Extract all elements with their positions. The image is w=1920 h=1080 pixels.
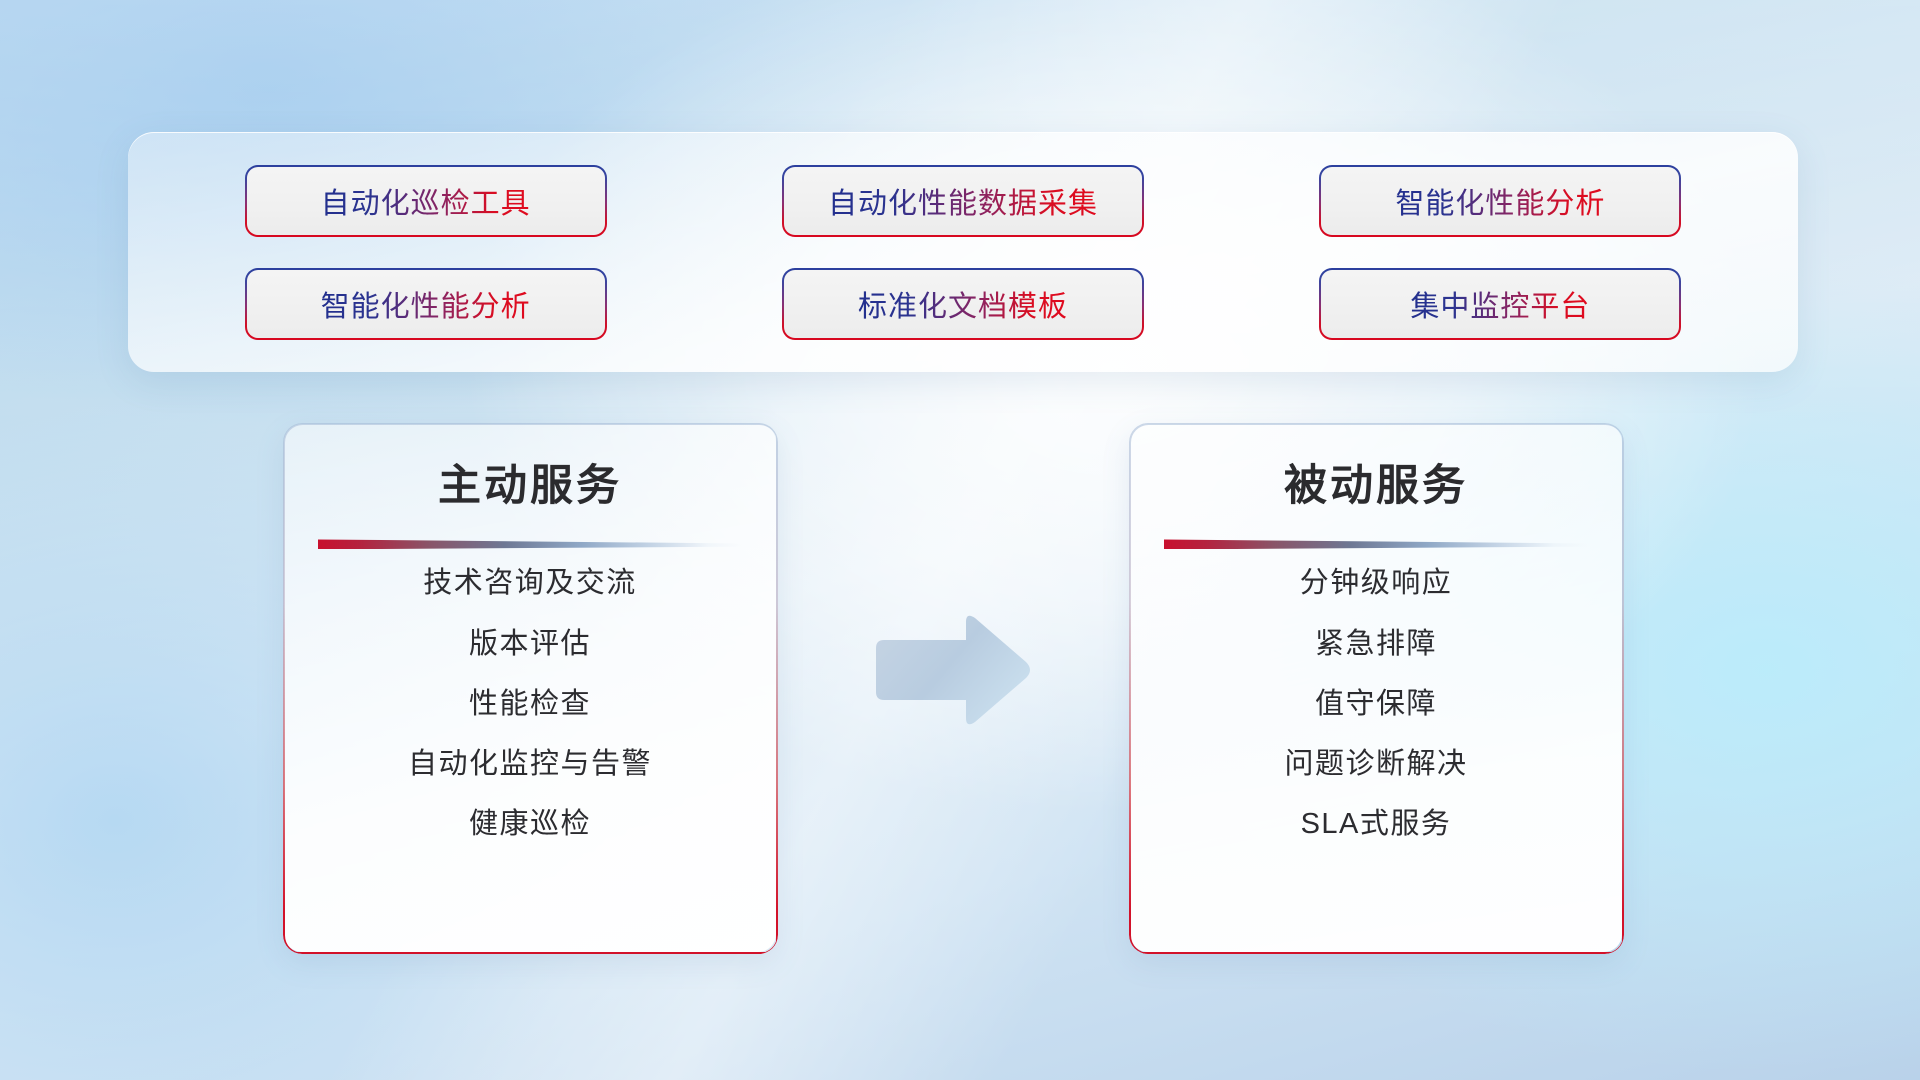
active-service-card: 主动服务 技术咨询及交流 版本评估 性能检查 自动化监控与告警 健康巡检	[284, 424, 776, 952]
capability-pill-label: 自动化巡检工具	[321, 180, 531, 222]
arrow-right-icon	[866, 610, 1034, 730]
divider-bar	[1164, 539, 1588, 549]
list-item: 健康巡检	[318, 806, 742, 842]
list-item: SLA式服务	[1164, 806, 1588, 842]
capability-pill[interactable]: 智能化性能分析	[1321, 167, 1679, 235]
list-item: 问题诊断解决	[1164, 746, 1588, 782]
divider-bar	[318, 539, 742, 549]
active-service-list: 技术咨询及交流 版本评估 性能检查 自动化监控与告警 健康巡检	[318, 565, 742, 842]
capability-pill-label: 智能化性能分析	[1395, 180, 1605, 222]
list-item: 性能检查	[318, 686, 742, 722]
card-divider	[1164, 537, 1588, 551]
capability-pill-label: 标准化文档模板	[858, 283, 1068, 325]
list-item: 自动化监控与告警	[318, 746, 742, 782]
capability-pill[interactable]: 标准化文档模板	[784, 270, 1142, 338]
capability-panel: 自动化巡检工具 自动化性能数据采集 智能化性能分析 智能化性能分析 标准化文档模…	[128, 132, 1798, 372]
card-title: 主动服务	[318, 462, 742, 511]
capability-pill[interactable]: 自动化巡检工具	[247, 167, 605, 235]
capability-pill-label: 自动化性能数据采集	[828, 180, 1098, 222]
list-item: 技术咨询及交流	[318, 565, 742, 601]
capability-pill[interactable]: 集中监控平台	[1321, 270, 1679, 338]
capability-pill-label: 智能化性能分析	[321, 283, 531, 325]
list-item: 分钟级响应	[1164, 565, 1588, 601]
capability-pill[interactable]: 智能化性能分析	[247, 270, 605, 338]
capability-pill[interactable]: 自动化性能数据采集	[784, 167, 1142, 235]
card-title: 被动服务	[1164, 462, 1588, 511]
list-item: 值守保障	[1164, 686, 1588, 722]
passive-service-list: 分钟级响应 紧急排障 值守保障 问题诊断解决 SLA式服务	[1164, 565, 1588, 842]
list-item: 版本评估	[318, 626, 742, 662]
card-divider	[318, 537, 742, 551]
passive-service-card: 被动服务 分钟级响应 紧急排障 值守保障 问题诊断解决 SLA式服务	[1130, 424, 1622, 952]
capability-pill-label: 集中监控平台	[1410, 283, 1590, 325]
list-item: 紧急排障	[1164, 626, 1588, 662]
